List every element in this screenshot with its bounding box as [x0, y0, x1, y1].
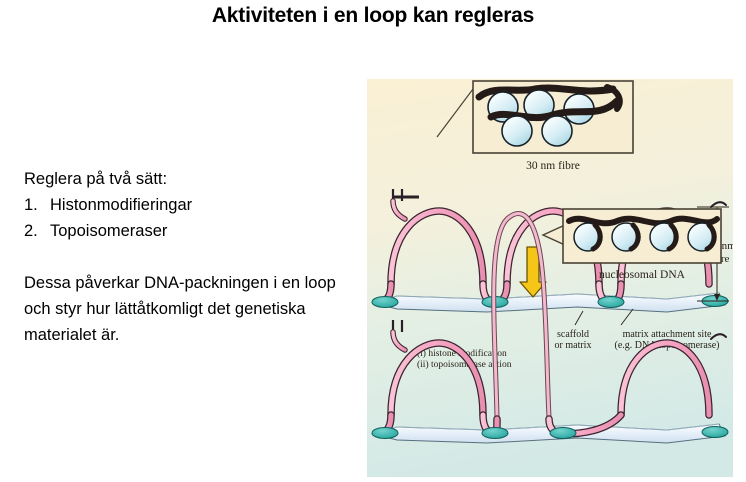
body-paragraph: Dessa påverkar DNA-packningen i en loop … [24, 244, 344, 348]
scaffold-label-line2: or matrix [555, 340, 592, 351]
list-item: 1. Histonmodifieringar [24, 192, 344, 218]
list-item-number: 2. [24, 218, 40, 244]
list-item-label: Histonmodifieringar [50, 192, 192, 218]
page-title: Aktiviteten i en loop kan regleras [0, 4, 746, 28]
slide-canvas: Aktiviteten i en loop kan regleras Regle… [0, 0, 746, 482]
list-item: 2. Topoisomeraser [24, 218, 344, 244]
body-lead-text: Reglera på två sätt: [24, 166, 344, 192]
inset-bottom-label: nucleosomal DNA [599, 269, 686, 281]
attachment-label-line1: matrix attachment site [623, 329, 712, 340]
body-text-block: Reglera på två sätt: 1. Histonmodifierin… [24, 166, 344, 348]
list-item-label: Topoisomeraser [50, 218, 167, 244]
regulation-list: 1. Histonmodifieringar 2. Topoisomeraser [24, 192, 344, 244]
scaffold-label-line1: scaffold [557, 329, 589, 340]
inset-top-label: 30 nm fibre [526, 160, 580, 172]
list-item-number: 1. [24, 192, 40, 218]
chromatin-loop-figure: 30 nm fibre 300 nm fibre scaffold or m [367, 79, 733, 477]
